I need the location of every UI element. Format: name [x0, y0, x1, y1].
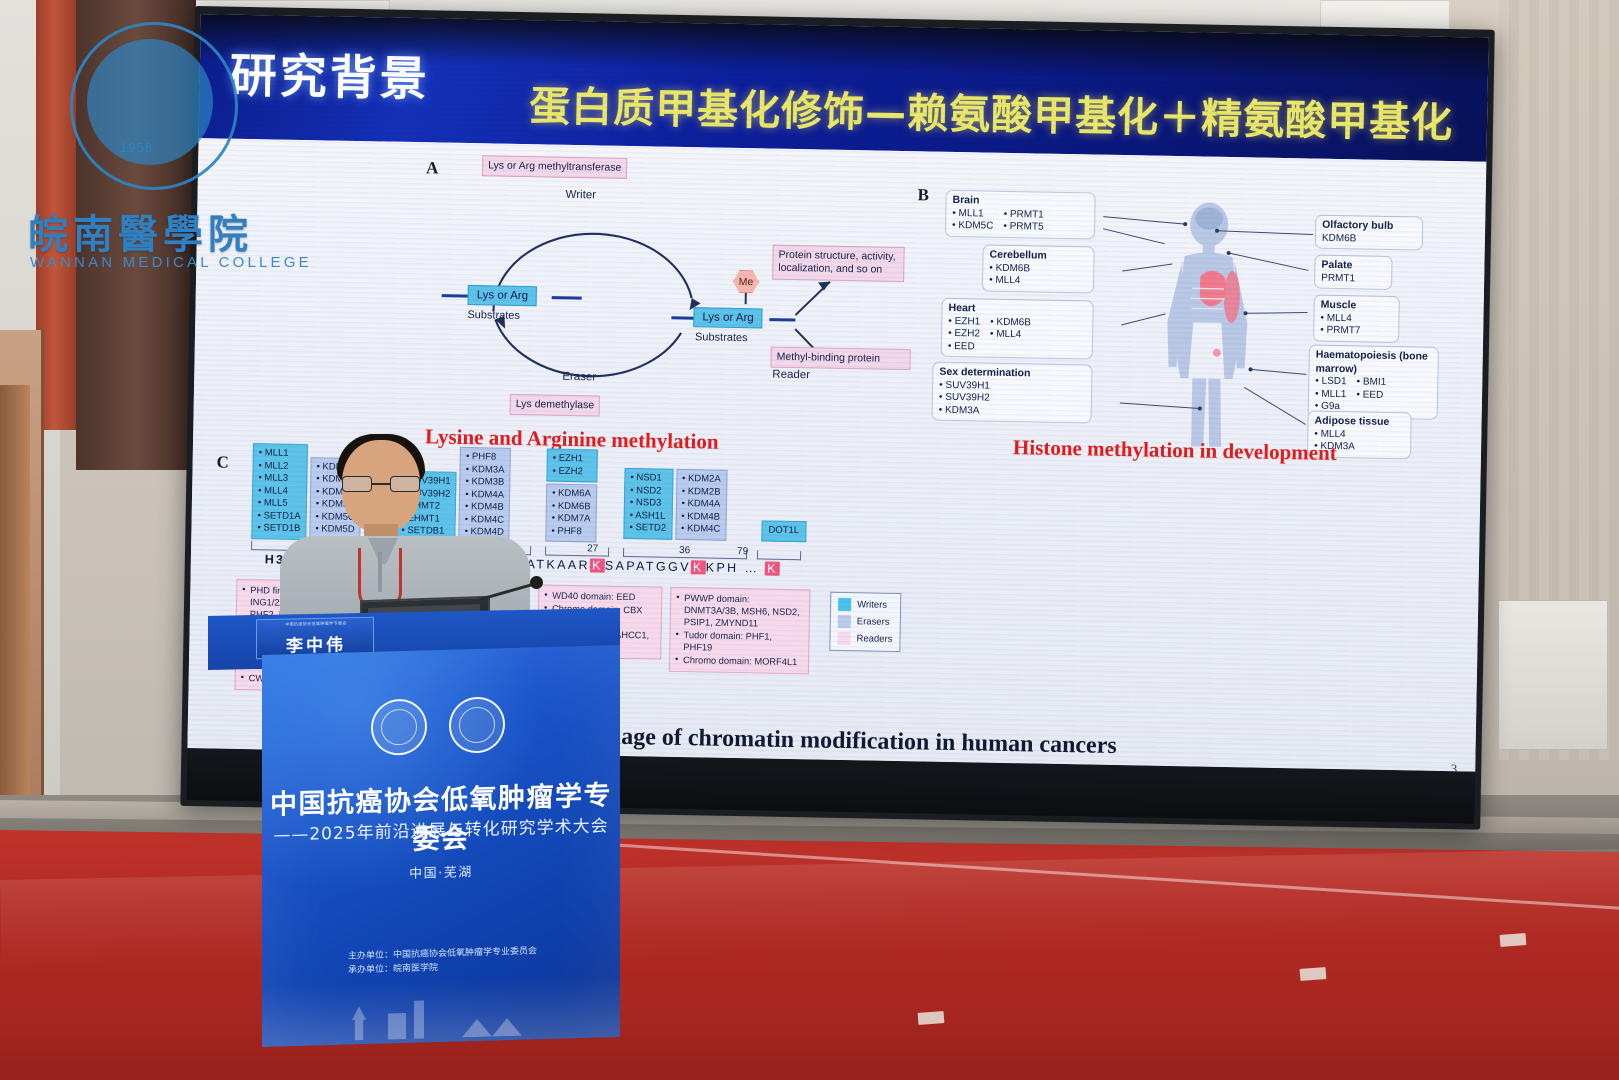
slide-title-bar: 研究背景 蛋白质甲基化修饰—赖氨酸甲基化＋精氨酸甲基化: [199, 14, 1489, 162]
cancer-association-logo-icon: [371, 698, 427, 756]
legend-row-erasers: Erasers: [838, 615, 893, 629]
gene: • EED: [948, 340, 980, 353]
panel-a-reader-label: Reader: [772, 369, 810, 382]
writers-swatch: [838, 598, 851, 611]
panel-a-node-right-sub: Substrates: [695, 331, 748, 344]
panel-c-group-k79: DOT1L: [761, 520, 806, 541]
gene: • EZH1: [948, 315, 980, 328]
gene: PRMT1: [1321, 272, 1385, 286]
panel-b-box-palate: Palate PRMT1: [1314, 255, 1393, 290]
gene: • PRMT5: [1003, 221, 1043, 234]
site-number-k79: 79: [737, 546, 748, 557]
box-title: Muscle: [1321, 299, 1357, 312]
paper-scrap: [1500, 933, 1527, 947]
wood-trim: [0, 385, 30, 855]
writers-box: • NSD1 • NSD2 • NSD3 • ASH1L • SETD2: [623, 468, 673, 540]
gene: • EZH2: [552, 465, 591, 478]
reader-box-k36: PWWP domain: DNMT3A/3B, MSH6, NSD2, PSIP…: [669, 587, 811, 675]
gene: • KDM4A: [681, 498, 720, 511]
panel-a-reader-box: Methyl-binding protein: [770, 347, 910, 371]
panel-a: A Lys or Arg methyltransferase Writer: [421, 150, 926, 431]
gene: • KDM6B: [552, 500, 591, 513]
panel-c-letter: C: [216, 452, 229, 472]
gene: • LSD1: [1315, 376, 1347, 389]
panel-a-node-right: Lys or Arg: [693, 307, 763, 328]
panel-c-group-k27: • EZH1 • EZH2 • KDM6A • KDM6B • KDM7A • …: [545, 449, 597, 543]
writers-box: • EZH1 • EZH2: [546, 449, 597, 483]
gene: • EZH2: [948, 328, 980, 341]
gene: • KDM2A: [682, 473, 721, 486]
gene: • MLL4: [989, 275, 1087, 289]
podium: 中国抗癌协会低氧肿瘤学专委会 李中伟 中国抗癌协会低氧肿瘤学专委会 ——2025…: [204, 612, 624, 1042]
paper-scrap: [918, 1011, 945, 1025]
gene: • ASH1L: [630, 510, 667, 523]
gene: • PRMT7: [1320, 325, 1392, 339]
dark-pillar: [76, 0, 196, 470]
podium-banner: 中国抗癌协会低氧肿瘤学专委会 ——2025年前沿进展与转化研究学术大会 中国·芜…: [262, 645, 620, 1047]
gene: KDM6B: [1322, 232, 1416, 246]
domain-item: WD40 domain: EED: [544, 590, 656, 604]
readers-swatch: [837, 632, 850, 645]
legend-row-writers: Writers: [838, 598, 893, 612]
box-title: Adipose tissue: [1314, 415, 1389, 428]
gene: • NSD2: [630, 485, 667, 498]
panel-b-box-heart: Heart • EZH1• EZH2• EED • KDM6B• MLL4: [941, 298, 1094, 360]
panel-b-box-olfactory-bulb: Olfactory bulb KDM6B: [1315, 215, 1424, 251]
k36-residue: K: [691, 560, 706, 574]
slide-page-number: 3: [1451, 761, 1458, 771]
legend-label: Readers: [856, 633, 892, 645]
box-title: Heart: [948, 302, 975, 314]
gene: • EED: [1356, 389, 1386, 402]
panel-a-node-left-sub: Substrates: [467, 309, 520, 322]
brace-k27: [545, 547, 609, 557]
gene: • KDM6B: [990, 316, 1031, 329]
nameplate-top-line: 中国抗癌协会低氧肿瘤学专委会: [257, 620, 375, 628]
panel-b-box-cerebellum: Cerebellum • KDM6B • MLL4: [982, 244, 1095, 293]
skyline-tower: [414, 1000, 424, 1038]
gene: • BMI1: [1356, 376, 1386, 389]
podium-logo-row: [338, 695, 538, 759]
paper-scrap: [1300, 967, 1327, 981]
panel-b: B: [913, 181, 1463, 461]
gene: • MLL4: [990, 329, 1031, 342]
erasers-box: • KDM6A • KDM6B • KDM7A • PHF8: [545, 484, 597, 543]
panel-a-node-left: Lys or Arg: [468, 285, 538, 306]
gene: • NSD1: [630, 472, 667, 485]
gene: • KDM6A: [552, 488, 591, 501]
legend-row-readers: Readers: [837, 632, 892, 646]
legend-label: Writers: [857, 599, 887, 611]
writers-box: DOT1L: [761, 520, 806, 541]
gene: • KDM5C: [952, 220, 994, 233]
box-title: Brain: [952, 194, 979, 206]
box-title: Cerebellum: [989, 249, 1046, 262]
panel-a-outcome-box: Protein structure, activity, localizatio…: [772, 245, 905, 282]
gene: • SETD2: [629, 522, 666, 535]
skyline-pagoda: [352, 1006, 366, 1040]
wannan-medical-college-logo-icon: [449, 696, 505, 754]
gene: • PHF8: [551, 525, 590, 538]
gene: • PRMT1: [1003, 208, 1043, 221]
gene: • KDM2B: [682, 486, 721, 499]
k79-residue: K: [765, 562, 780, 576]
slide-title: 蛋白质甲基化修饰—赖氨酸甲基化＋精氨酸甲基化: [529, 72, 1480, 149]
panel-b-box-brain: Brain • MLL1• KDM5C • PRMT1• PRMT5: [945, 190, 1096, 239]
gene: DOT1L: [768, 525, 799, 537]
site-number-k36: 36: [679, 545, 690, 556]
erasers-box: • KDM2A • KDM2B • KDM4A • KDM4B • KDM4C: [675, 469, 728, 541]
microphone-head-icon[interactable]: [530, 576, 543, 589]
domain-item: Tudor domain: PHF1, PHF19: [675, 629, 803, 655]
gene: • NSD3: [630, 497, 667, 510]
site-number-k27: 27: [587, 543, 598, 554]
brace-k79: [757, 550, 801, 560]
gene: • MLL1: [1315, 388, 1347, 401]
panel-b-box-haematopoiesis: Haematopoiesis (bone marrow) • LSD1• MLL…: [1308, 344, 1439, 419]
podium-skyline-graphic: [262, 975, 620, 1047]
air-vent: [1498, 600, 1608, 750]
legend-label: Erasers: [857, 616, 890, 628]
gene: • KDM3A: [939, 404, 1085, 419]
podium-organizers: 主办单位：中国抗癌协会低氧肿瘤学专业委员会 承办单位：皖南医学院: [348, 943, 620, 979]
panel-a-eraser-box: Lys demethylase: [510, 394, 601, 417]
gene: • KDM4C: [681, 523, 720, 536]
gene: • KDM7A: [552, 513, 591, 526]
box-title: Sex determination: [939, 366, 1030, 380]
skyline-bridge: [462, 1018, 522, 1038]
gene: • KDM4B: [681, 511, 720, 524]
gene: • MLL1: [952, 207, 994, 220]
panel-b-box-muscle: Muscle • MLL4 • PRMT7: [1313, 295, 1400, 343]
k27-residue: K: [590, 558, 605, 572]
skyline-building: [388, 1013, 406, 1040]
panel-b-box-sex-determination: Sex determination • SUV39H1 • SUV39H2 • …: [932, 362, 1093, 424]
conference-room-scene: 研究背景 蛋白质甲基化修饰—赖氨酸甲基化＋精氨酸甲基化 A Lys or Arg…: [0, 0, 1619, 1080]
box-title: Haematopoiesis (bone marrow): [1315, 349, 1427, 375]
box-title: Olfactory bulb: [1322, 219, 1393, 232]
panel-c-legend: Writers Erasers Readers: [829, 592, 901, 652]
domain-item: Chromo domain: MORF4L1: [675, 654, 803, 668]
gene: • EZH1: [553, 453, 592, 466]
speaker-glasses-icon: [342, 476, 420, 493]
domain-item: PWWP domain: DNMT3A/3B, MSH6, NSD2, PSIP…: [676, 592, 805, 631]
box-title: Palate: [1321, 259, 1352, 272]
slide-section-label: 研究背景: [229, 37, 430, 110]
erasers-swatch: [838, 615, 851, 628]
panel-a-eraser-label: Eraser: [562, 371, 596, 384]
panel-c-group-k36: • NSD1 • NSD2 • NSD3 • ASH1L • SETD2 • K…: [623, 468, 727, 541]
